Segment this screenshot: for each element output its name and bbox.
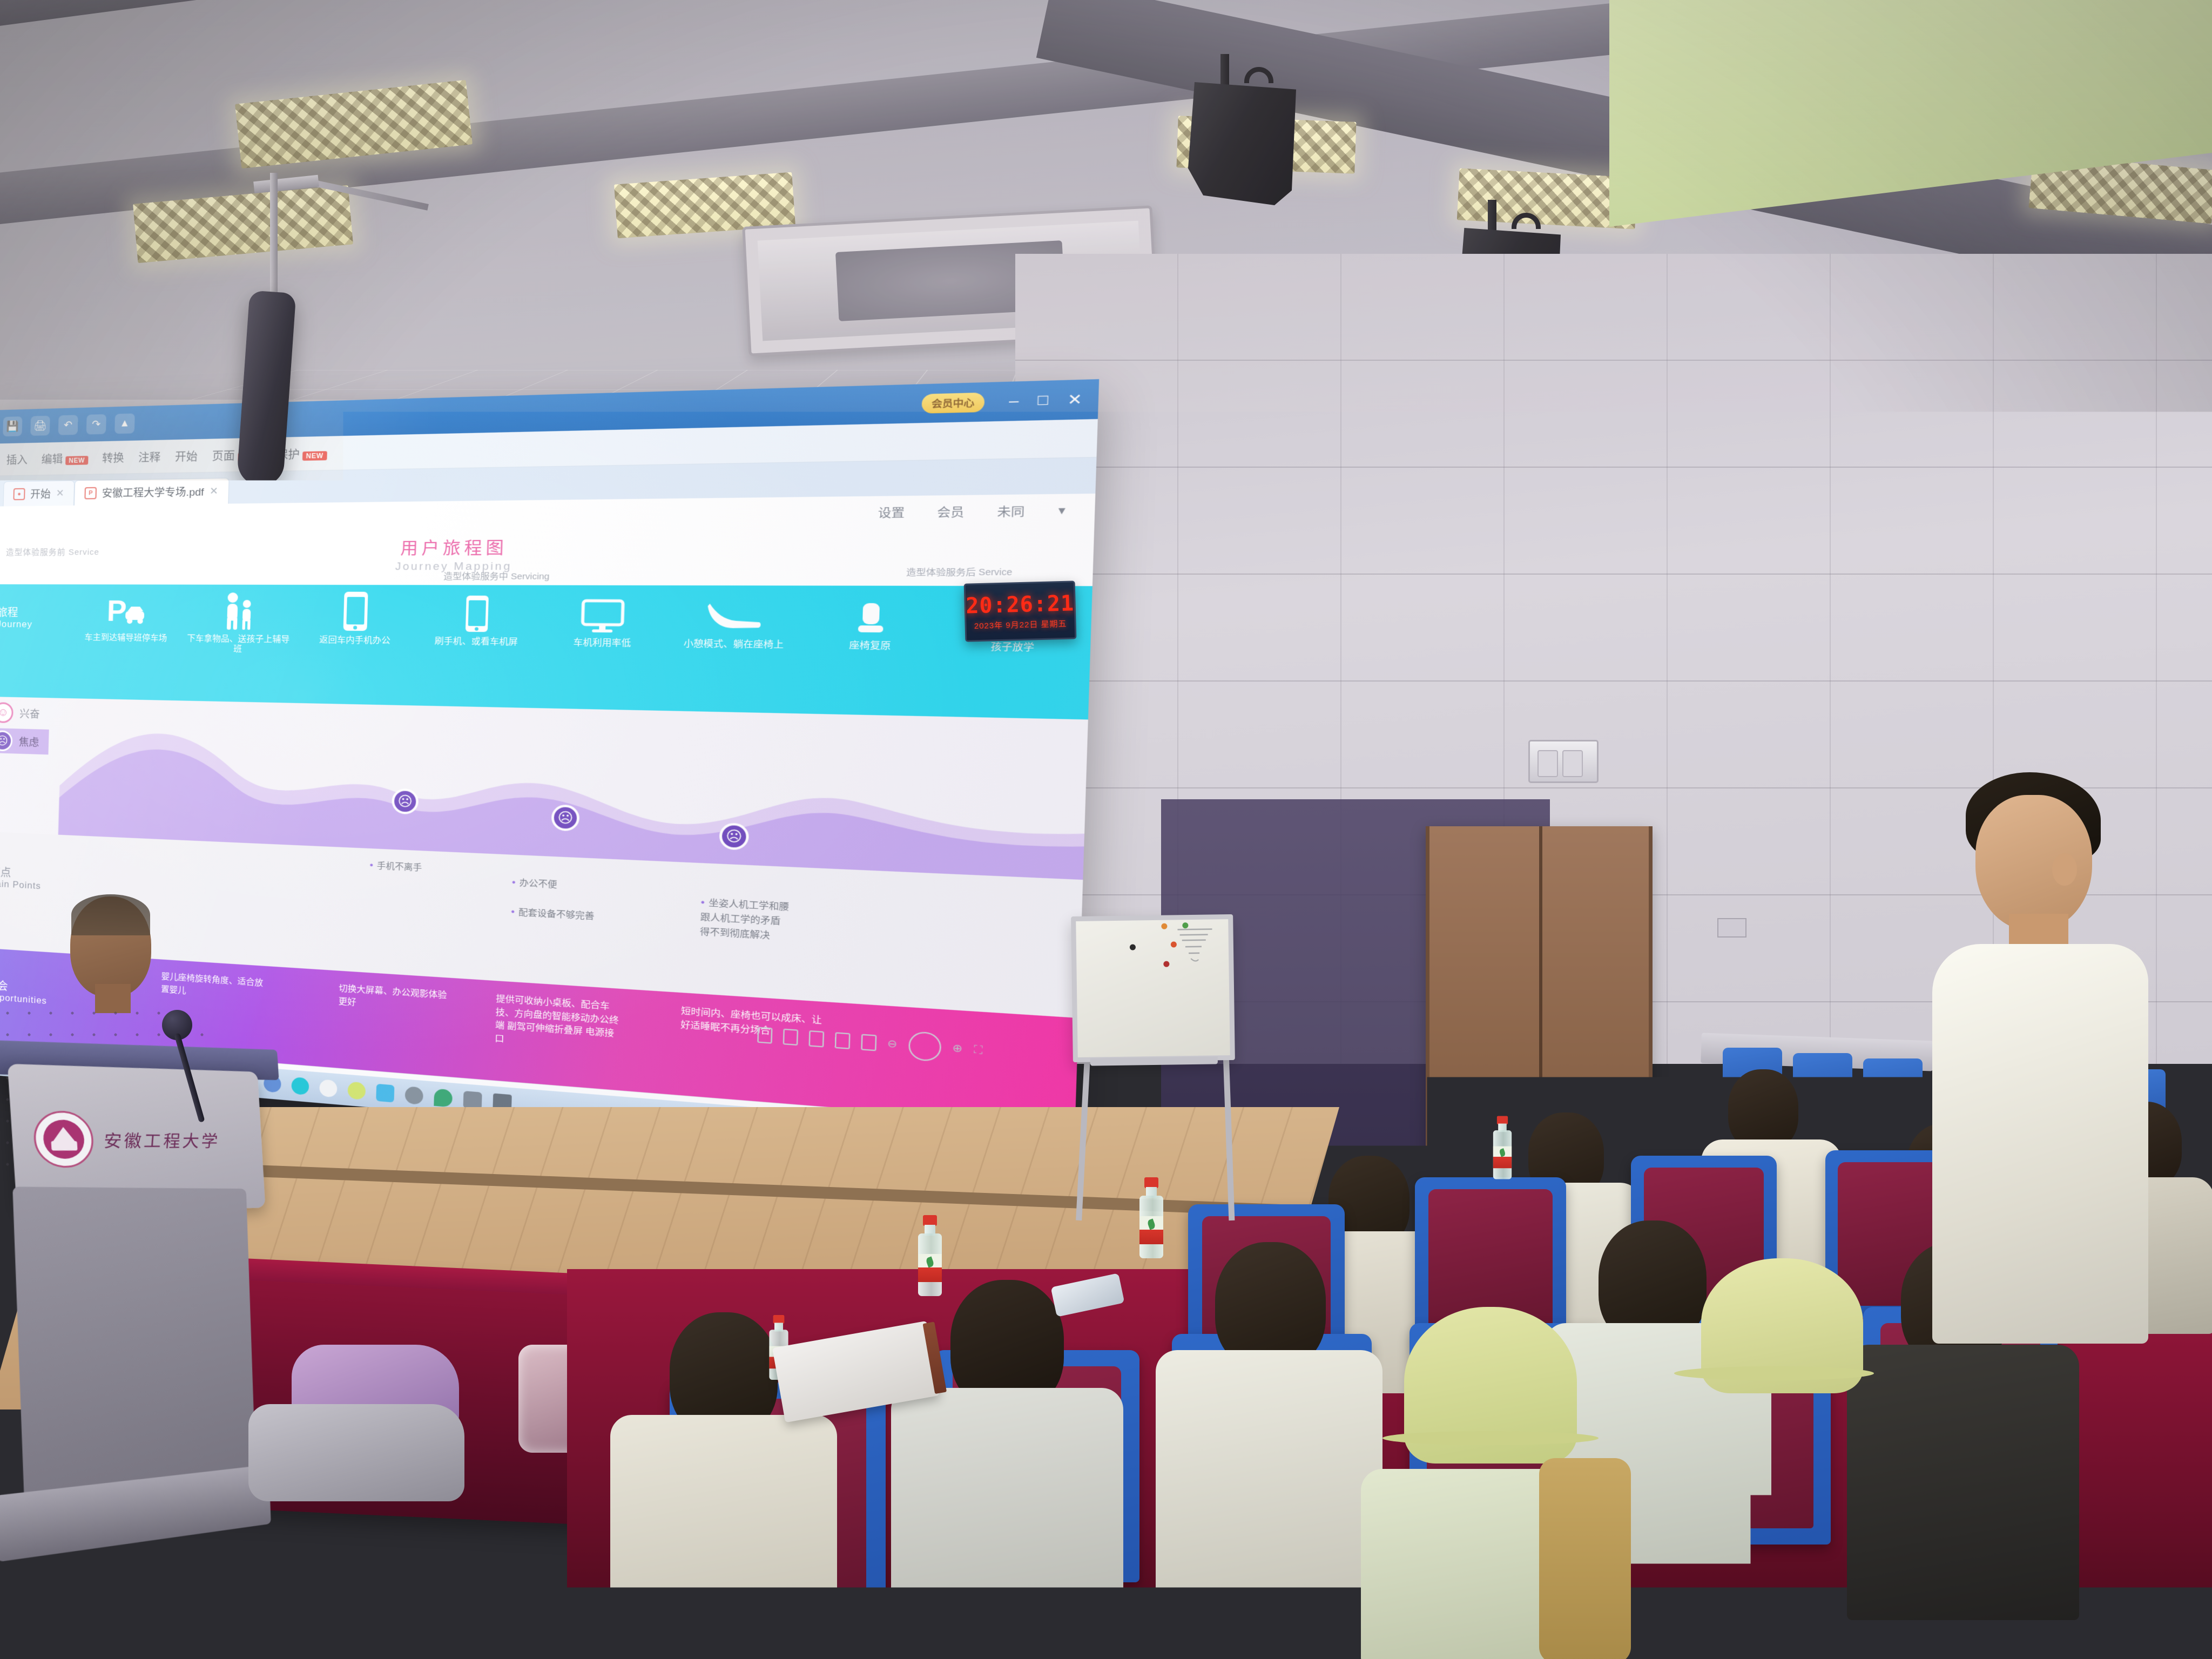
clock-date: 2023年 9月22日 星期五	[974, 618, 1067, 631]
water-bottle[interactable]	[1139, 1177, 1163, 1258]
redo-icon[interactable]: ↷	[86, 414, 106, 435]
led-wall-clock: 20:26:21 2023年 9月22日 星期五	[964, 581, 1077, 642]
smartphone-icon	[296, 589, 416, 632]
journey-step-caption: 座椅复原	[801, 640, 941, 653]
magnet-icon	[1163, 961, 1169, 967]
tab-close-icon[interactable]: ✕	[56, 488, 64, 499]
smartphone-icon	[415, 590, 539, 634]
pain-point-item: 配套设备不够完善	[511, 904, 684, 929]
opportunity-item: 切换大屏幕、办公观影体验更好	[338, 982, 453, 1016]
service-during-label: 造型体验服务中 Servicing	[443, 570, 550, 582]
journey-band: 旅程 Journey P 车主到达辅导班停车场	[0, 584, 1092, 720]
hat-brim	[1382, 1431, 1599, 1445]
pain-point-item: 办公不便	[511, 875, 685, 899]
journey-step-caption: 车主到达辅导班停车场	[71, 632, 181, 644]
journey-step-caption: 小憩模式、躺在座椅上	[667, 638, 801, 651]
audience-torso	[1847, 1345, 2079, 1620]
water-bottle[interactable]	[1493, 1116, 1512, 1179]
undo-icon[interactable]: ↶	[58, 415, 78, 435]
journey-step: 刷手机、或看车机屏	[415, 585, 540, 648]
whiteboard[interactable]	[1071, 914, 1235, 1062]
seat-icon	[801, 591, 942, 638]
fullscreen-icon[interactable]: ⛶	[974, 1043, 983, 1056]
audience-torso	[610, 1415, 837, 1659]
taskbar-app-icon[interactable]	[319, 1079, 338, 1097]
presenter-hair	[71, 894, 150, 935]
taskbar-app-icon[interactable]	[405, 1086, 423, 1105]
parking-car-icon: P	[71, 589, 183, 630]
emotion-row-excited: ☺ 兴奋	[0, 700, 40, 726]
emotion-row-anxious: ☹ 焦虑	[0, 728, 49, 754]
slide-title: 用户旅程图 Journey Mapping	[395, 535, 512, 574]
magnet-icon	[1161, 923, 1167, 929]
wall-outlet-panel[interactable]	[1528, 740, 1599, 783]
audience-torso	[1156, 1350, 1382, 1620]
slide-header: 造型体验服务前 Service 用户旅程图 Journey Mapping 造型…	[0, 527, 1094, 586]
print-icon[interactable]: 🖨	[30, 416, 50, 436]
journey-step-caption: 返回车内手机办公	[295, 635, 415, 646]
clock-time: 20:26:21	[966, 591, 1075, 618]
new-badge: NEW	[302, 451, 327, 461]
fit-page-icon[interactable]	[908, 1031, 942, 1062]
menu-item-annotate[interactable]: 注释	[138, 448, 161, 465]
water-bottle[interactable]	[918, 1215, 942, 1296]
student-ear	[2052, 853, 2077, 886]
menu-item-start[interactable]: 开始	[175, 448, 198, 464]
service-after-label: 造型体验服务后 Service	[906, 565, 1013, 578]
door-sign	[1717, 918, 1746, 938]
bag-pile	[227, 1345, 508, 1501]
journey-step-caption: 刷手机、或看车机屏	[415, 636, 539, 648]
standing-student	[1928, 772, 2155, 1339]
university-logo	[32, 1110, 95, 1168]
home-icon[interactable]: ▲	[114, 414, 135, 434]
menu-sync[interactable]: 未同	[997, 502, 1025, 520]
zoom-in-icon[interactable]: ⊕	[952, 1042, 963, 1056]
pdf-file-icon: P	[84, 487, 97, 499]
minimize-icon[interactable]: –	[1009, 392, 1019, 410]
window-controls: 会员中心 – □ ✕	[921, 389, 1098, 414]
pain-point-column: 坐姿人机工学和腰 跟人机工学的矛盾 得不到彻底解决	[700, 894, 899, 949]
service-before-label: 造型体验服务前 Service	[6, 546, 100, 558]
vip-center-chip[interactable]: 会员中心	[921, 392, 984, 413]
taskbar-app-icon[interactable]	[376, 1084, 394, 1103]
whiteboard-scribble	[1174, 923, 1223, 973]
maximize-icon[interactable]: □	[1037, 392, 1049, 410]
lectern-body	[12, 1186, 256, 1510]
journey-step: P 车主到达辅导班停车场	[71, 584, 183, 644]
student-white-shirt	[1932, 944, 2148, 1344]
page-layout-icon[interactable]	[861, 1034, 876, 1051]
monitor-icon	[538, 590, 669, 635]
row-label-pain-points: 痛点 Pain Points	[0, 866, 42, 891]
menu-item-edit[interactable]: 编辑NEW	[41, 450, 88, 467]
close-icon[interactable]: ✕	[1067, 390, 1083, 409]
hat-brim	[1674, 1366, 1874, 1380]
page-layout-icon[interactable]	[757, 1027, 772, 1043]
grey-bag	[248, 1404, 464, 1501]
taskbar-app-icon[interactable]	[347, 1081, 366, 1100]
university-name: 安徽工程大学	[103, 1127, 221, 1152]
shield-icon[interactable]	[434, 1089, 453, 1108]
page-layout-icon[interactable]	[783, 1029, 798, 1046]
taskbar-app-icon[interactable]	[291, 1077, 309, 1095]
journey-step-list: P 车主到达辅导班停车场 下车拿物品、送孩子上辅导班	[69, 584, 1088, 719]
menu-item-convert[interactable]: 转换	[102, 449, 124, 466]
projector-rod	[270, 173, 278, 302]
happy-face-icon: ☺	[0, 702, 14, 723]
svg-text:P: P	[107, 595, 127, 628]
page-layout-icon[interactable]	[834, 1032, 850, 1049]
journey-step: 车机利用率低	[538, 585, 669, 650]
journey-step-caption: 下车拿物品、送孩子上辅导班	[181, 633, 296, 656]
audience-torso	[891, 1388, 1123, 1658]
audience-head	[1728, 1069, 1798, 1150]
tab-pdf-document[interactable]: P 安徽工程大学专场.pdf ✕	[74, 478, 230, 505]
recline-seat-icon	[667, 590, 803, 636]
side-chair[interactable]	[1793, 1053, 1852, 1102]
menu-member[interactable]: 会员	[937, 503, 965, 520]
journey-step: 下车拿物品、送孩子上辅导班	[181, 584, 298, 656]
journey-step: 座椅复原	[801, 585, 942, 652]
chevron-down-icon[interactable]: ▾	[1058, 503, 1065, 518]
tab-start[interactable]: ● 开始 ✕	[3, 480, 75, 506]
magnet-icon	[1130, 944, 1136, 950]
opportunity-item: 提供可收纳小桌板、配合车技、方向盘的智能移动办公终端 副驾可伸缩折叠屏 电源接口	[495, 993, 623, 1055]
home-tab-icon: ●	[13, 488, 25, 500]
auditorium-photo: 💾 🖨 ↶ ↷ ▲ 会员中心 – □ ✕ 插入 编辑NEW 转换 注释 开始 页…	[0, 0, 2212, 1659]
page-layout-icon[interactable]	[808, 1030, 824, 1048]
menu-settings[interactable]: 设置	[878, 504, 905, 521]
long-hair	[1539, 1458, 1631, 1659]
row-label-journey: 旅程 Journey	[0, 607, 33, 630]
journey-step: 返回车内手机办公	[295, 585, 416, 646]
pain-point-item: 手机不离手	[369, 858, 504, 879]
zoom-out-icon[interactable]: ⊖	[887, 1037, 898, 1050]
journey-step-caption: 车机利用率低	[538, 637, 667, 650]
slide-title-cn: 用户旅程图	[395, 535, 512, 559]
new-badge: NEW	[65, 456, 88, 465]
sad-face-icon: ☹	[0, 730, 13, 751]
audience-head	[1599, 1085, 1663, 1161]
magnet-icon	[1171, 941, 1177, 947]
menu-item-insert[interactable]: 插入	[6, 451, 28, 467]
side-chair[interactable]	[1863, 1058, 1923, 1107]
save-icon[interactable]: 💾	[3, 416, 22, 436]
journey-step: 小憩模式、躺在座椅上	[667, 585, 803, 651]
parent-child-icon	[181, 589, 297, 631]
pain-point-column: 手机不离手	[369, 858, 504, 879]
tab-close-icon[interactable]: ✕	[210, 485, 218, 497]
ceiling-speaker	[1188, 54, 1296, 205]
journey-step-caption: 孩子放学	[940, 641, 1086, 654]
pain-point-column: 办公不便 配套设备不够完善	[511, 875, 685, 929]
